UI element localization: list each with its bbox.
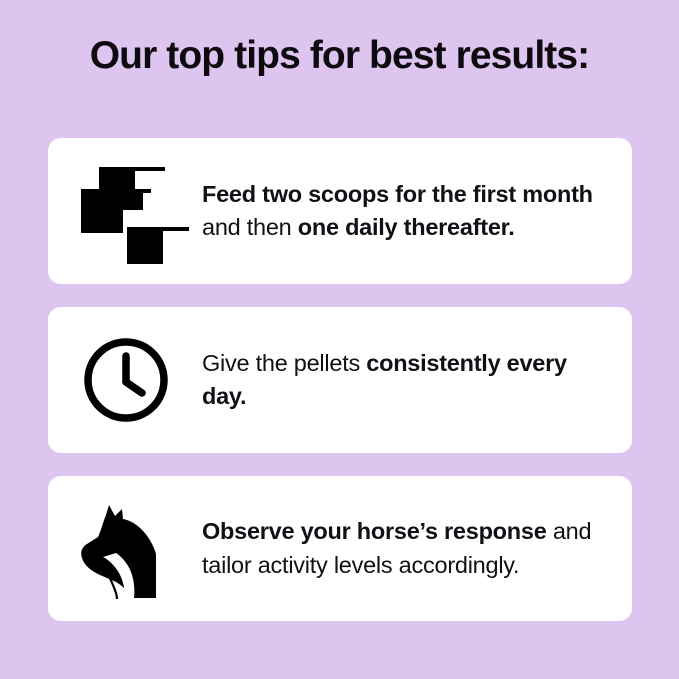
tip-card-2: Give the pellets consistently every day. (48, 307, 632, 453)
clock-icon (83, 337, 169, 423)
tip-2-run-0: Give the pellets (202, 350, 366, 376)
tip-card-2-icon-area (48, 307, 202, 453)
horse-head-icon (78, 499, 174, 601)
tip-card-3-icon-area (48, 476, 202, 621)
tip-card-1-text: Feed two scoops for the first month and … (202, 178, 632, 245)
tips-infographic: Our top tips for best results: (0, 0, 679, 679)
tip-1-run-1: and then (202, 214, 298, 240)
scoop-nub (123, 193, 143, 210)
tip-1-run-2: one daily thereafter. (298, 214, 515, 240)
tip-1-run-0: Feed two scoops for the first month (202, 181, 593, 207)
two-scoops-icon (79, 163, 175, 258)
scoop-body (127, 227, 163, 264)
tip-3-run-0: Observe your horse’s response (202, 518, 553, 544)
tip-card-3: Observe your horse’s response and tailor… (48, 476, 632, 621)
tip-card-2-text: Give the pellets consistently every day. (202, 347, 632, 414)
tip-card-1: Feed two scoops for the first month and … (48, 138, 632, 284)
page-title: Our top tips for best results: (0, 34, 679, 78)
tip-card-3-text: Observe your horse’s response and tailor… (202, 515, 632, 582)
scoop-body (81, 189, 123, 233)
tip-card-1-icon-area (48, 138, 202, 284)
